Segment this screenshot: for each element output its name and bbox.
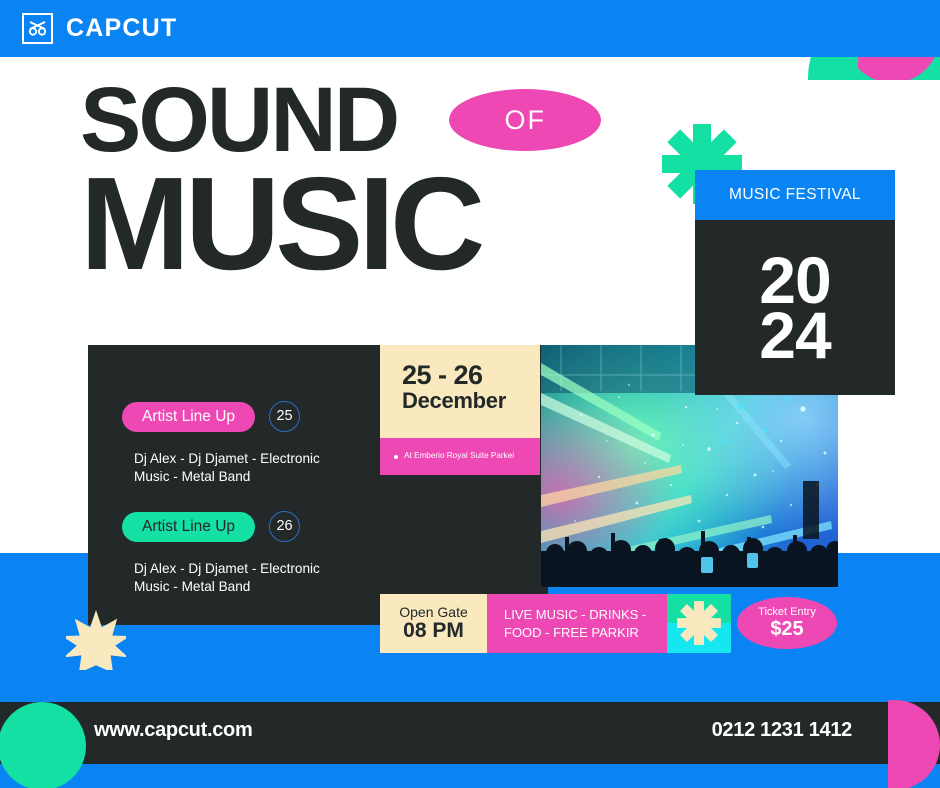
ticket-label: Ticket Entry — [758, 606, 816, 618]
footer-phone[interactable]: 0212 1231 1412 — [712, 720, 852, 740]
ticket-block: Ticket Entry $25 — [731, 594, 838, 653]
year-bottom: 24 — [759, 308, 830, 362]
festival-label: MUSIC FESTIVAL — [729, 186, 861, 204]
lineup-day-badge-26: 26 — [269, 511, 300, 542]
perks-block: LIVE MUSIC - DRINKS - FOOD - FREE PARKIR — [487, 594, 667, 653]
date-location-bar: At Emberio Royal Suite Parkei — [380, 438, 540, 475]
date-location-text: At Emberio Royal Suite Parkei — [404, 451, 514, 461]
ticket-price-badge[interactable]: Ticket Entry $25 — [737, 597, 837, 649]
footer-website[interactable]: www.capcut.com — [94, 720, 252, 740]
lineup-day-25: 25 — [276, 409, 292, 424]
open-gate-label: Open Gate — [399, 605, 468, 619]
lineup-day-26: 26 — [276, 519, 292, 534]
asterisk-icon-cream — [676, 600, 722, 646]
decor-pink-circle-shape-bottom — [888, 700, 940, 788]
bullet-dot-icon — [394, 455, 398, 459]
festival-label-bar: MUSIC FESTIVAL — [695, 170, 895, 220]
bottom-blue-bar — [0, 764, 940, 788]
lineup-pill-26[interactable]: Artist Line Up — [122, 512, 255, 542]
brand-name-label: CAPCUT — [66, 16, 177, 41]
festival-year-box: 20 24 — [695, 220, 895, 395]
open-gate-block: Open Gate 08 PM — [380, 594, 487, 653]
brand-logo[interactable]: CAPCUT — [22, 13, 177, 44]
decor-green-circle-bottom-left — [0, 702, 88, 788]
date-month: December — [402, 389, 540, 413]
lineup-pill-25[interactable]: Artist Line Up — [122, 402, 255, 432]
festival-year-badge: MUSIC FESTIVAL 20 24 — [695, 170, 895, 395]
decor-green-circle-shape — [0, 702, 86, 788]
star-burst-icon — [66, 610, 126, 670]
date-card-body: 25 - 26 December — [380, 345, 540, 438]
event-info-strip: Open Gate 08 PM LIVE MUSIC - DRINKS - FO… — [380, 594, 838, 653]
headline-word-of: OF — [505, 107, 547, 134]
date-card: 25 - 26 December At Emberio Royal Suite … — [380, 345, 540, 475]
headline-word-music: MUSIC — [80, 167, 720, 281]
asterisk-tile — [667, 594, 731, 653]
open-gate-time: 08 PM — [403, 620, 464, 642]
ticket-price: $25 — [770, 618, 803, 640]
lineup-header-25: Artist Line Up 25 — [122, 401, 344, 432]
decor-pink-circle-bottom-right — [888, 700, 940, 788]
lineup-item-25: Artist Line Up 25 Dj Alex - Dj Djamet - … — [122, 401, 344, 487]
lineup-artists-25: Dj Alex - Dj Djamet - Electronic Music -… — [134, 450, 344, 487]
poster-headline: SOUND OF MUSIC — [80, 78, 720, 280]
poster-canvas: CAPCUT SOUND OF MUSIC MUSIC FESTIVAL — [0, 0, 940, 788]
capcut-logo-icon — [22, 13, 53, 44]
perks-text: LIVE MUSIC - DRINKS - FOOD - FREE PARKIR — [504, 606, 667, 641]
headline-of-pill: OF — [449, 89, 601, 151]
date-days: 25 - 26 — [402, 361, 540, 389]
lineup-item-26: Artist Line Up 26 Dj Alex - Dj Djamet - … — [122, 511, 344, 597]
lineup-pill-label-26: Artist Line Up — [142, 519, 235, 535]
lineup-header-26: Artist Line Up 26 — [122, 511, 344, 542]
lineup-day-badge-25: 25 — [269, 401, 300, 432]
top-brand-bar: CAPCUT — [0, 0, 940, 57]
lineup-artists-26: Dj Alex - Dj Djamet - Electronic Music -… — [134, 560, 344, 597]
lineup-pill-label-25: Artist Line Up — [142, 409, 235, 425]
